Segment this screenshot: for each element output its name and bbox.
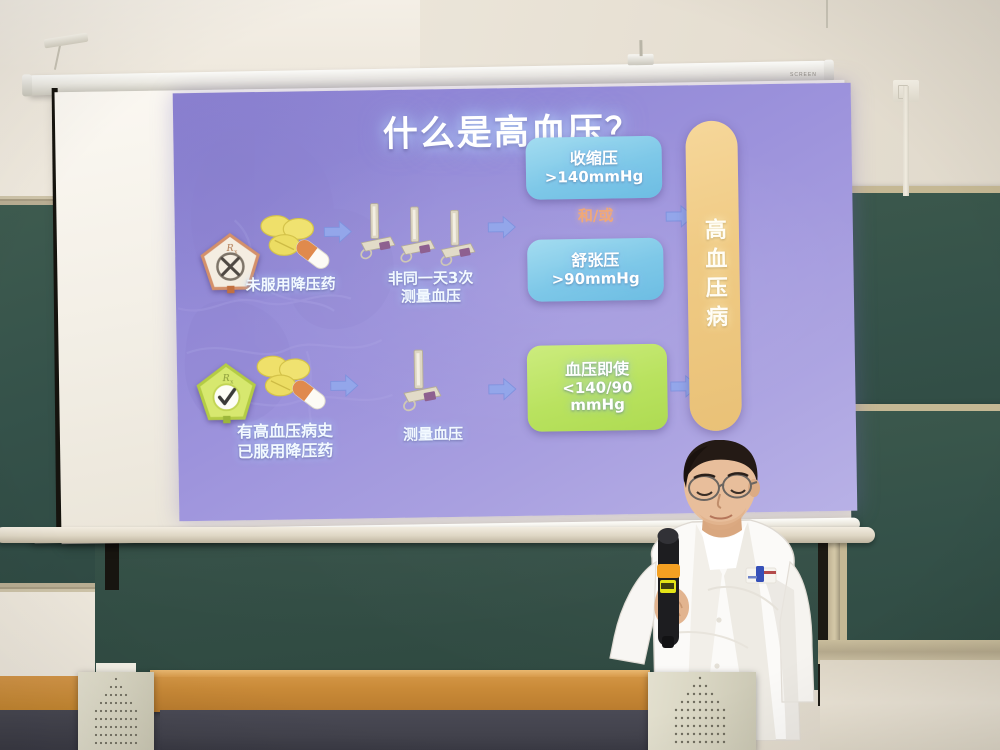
criterion-box-systolic: 收缩压 >140mmHg [525,136,662,200]
screenshot-root: SCREEN 什么是高血压？ R x [0,0,1000,750]
ceiling-shading [0,0,420,70]
desk-wood-highlight [150,670,650,677]
speaker-grille-dots-right [648,672,756,750]
microphone-band [657,564,680,578]
arrow-right-icon-1 [323,219,353,245]
criterion-systolic-value: >140mmHg [545,168,644,187]
roller-end-cap-left [22,74,32,96]
criterion-systolic-label: 收缩压 [570,149,618,169]
criterion-diastolic-label: 舒张压 [571,251,619,271]
svg-text:R: R [222,373,230,384]
roller-stem-right [639,40,642,56]
blood-pressure-monitor-icon-1 [356,202,399,263]
pills-icon-group-2 [245,353,334,416]
slide-connector-and-or: 和/或 [540,204,650,227]
criterion-box-treated: 血压即使 <140/90 mmHg [527,344,668,432]
slide-title: 什么是高血压？ [173,99,852,161]
loudspeaker-cabinet-left [78,672,154,750]
result-capsule-label: 高血压病 [697,218,731,334]
chest-pocket-badge [746,566,776,583]
arrow-right-icon-2 [487,214,517,240]
desk-front-panel [160,710,650,750]
roller-end-cap-right [824,60,834,82]
roller-label: SCREEN [790,72,817,78]
loudspeaker-cabinet-right [648,672,756,750]
presenter-head [684,440,760,530]
result-capsule: 高血压病 [685,120,742,431]
criterion-treated-unit: mmHg [570,397,625,416]
wall-conduit [903,86,909,196]
criterion-box-diastolic: 舒张压 >90mmHg [527,238,664,302]
slide-caption-measure-bp: 测量血压 [360,424,506,445]
slide-caption-history-on-medication: 有高血压病史 已服用降压药 [190,420,381,462]
speaker-grille-dots-left [78,672,154,750]
blood-pressure-monitor-icon-3 [437,209,480,270]
arrow-right-icon-4 [487,376,517,402]
slide-caption-no-medication: 未服用降压药 [206,274,376,295]
blood-pressure-monitor-icon-2 [396,205,439,266]
arrow-right-icon-3 [329,372,359,398]
criterion-diastolic-value: >90mmHg [552,270,640,289]
criterion-treated-label: 血压即使 [565,360,629,380]
slide-caption-measure-3-times: 非同一天3次 测量血压 [355,268,506,307]
blood-pressure-monitor-icon-4 [399,347,446,416]
ceiling-wire [826,0,828,28]
microphone-icon [657,528,680,648]
